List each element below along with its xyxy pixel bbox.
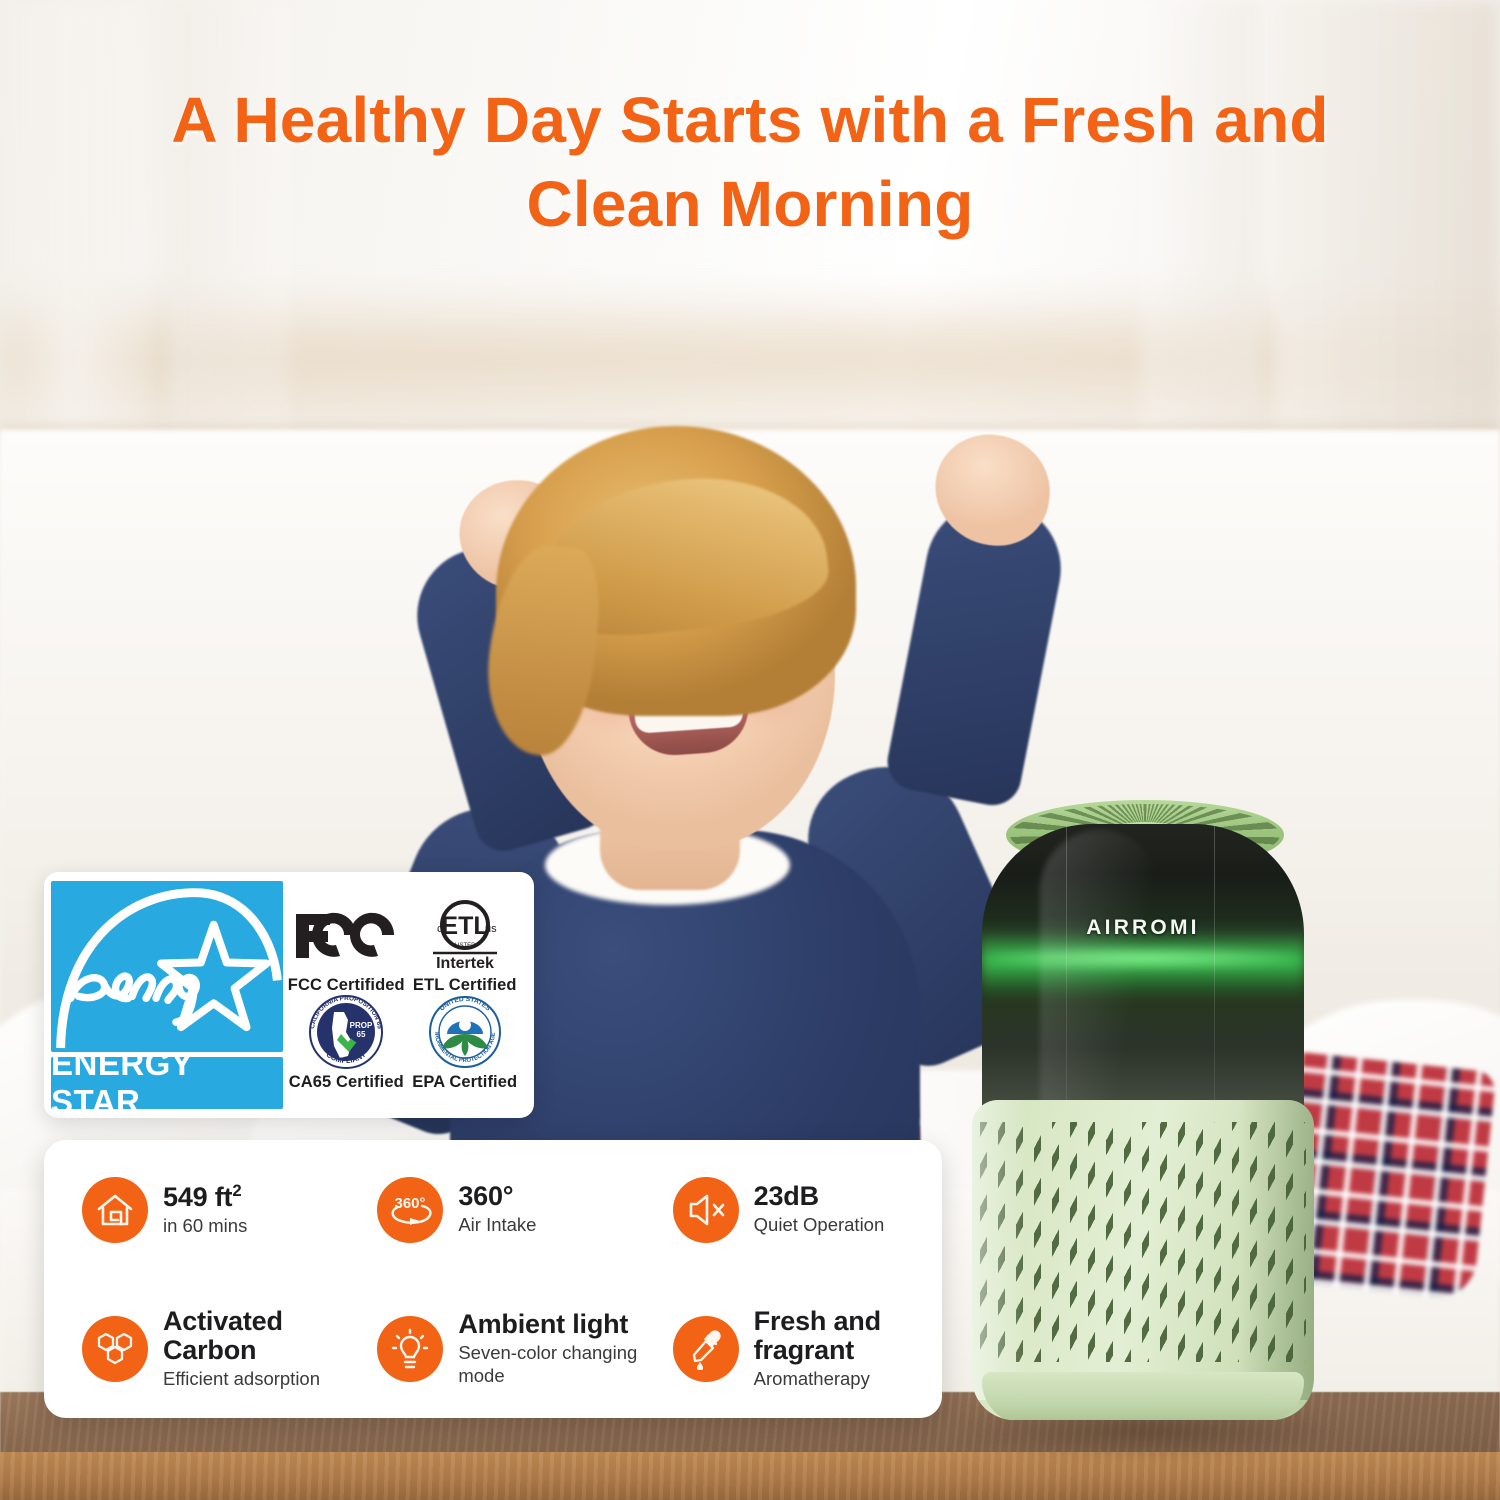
brand-logo: AIRROMI xyxy=(982,916,1304,940)
epa-seal-icon: UNITED STATES ENVIRONMENTAL PROTECTION A… xyxy=(427,995,503,1069)
cert-label-fcc: FCC Certifided xyxy=(288,976,405,995)
page-title: A Healthy Day Starts with a Fresh and Cl… xyxy=(90,78,1410,247)
svg-text:PROP: PROP xyxy=(350,1021,373,1030)
carbon-hexagon-icon xyxy=(82,1316,148,1382)
svg-text:65: 65 xyxy=(357,1030,366,1039)
body-shading xyxy=(972,1100,1314,1400)
certification-card: ENERGY STAR FCC Certifided xyxy=(44,872,534,1118)
feature-title-coverage: 549 ft2 xyxy=(163,1182,247,1212)
rotate-360-icon: 360° xyxy=(377,1177,443,1243)
feature-sub-aroma: Aromatherapy xyxy=(754,1368,936,1390)
dropper-icon xyxy=(673,1316,739,1382)
feature-title-light: Ambient light xyxy=(458,1310,640,1339)
cert-label-epa: EPA Certified xyxy=(412,1073,517,1092)
certification-grid: FCC Certifided ETL c us LISTED Intertek … xyxy=(283,892,534,1098)
cert-label-ca65: CA65 Certified xyxy=(289,1073,404,1092)
cert-item-fcc: FCC Certifided xyxy=(287,898,406,995)
cert-item-ca65: PROP 65 CALIFORNIA PROPOSITION 65 COMPLI… xyxy=(287,995,406,1092)
cert-item-etl: ETL c us LISTED Intertek ETL Certified xyxy=(406,898,525,995)
feature-sub-light: Seven-color changing mode xyxy=(458,1342,640,1386)
feature-coverage-area: 549 ft2 in 60 mins xyxy=(50,1177,345,1243)
etl-intertek-logo-icon: ETL c us LISTED Intertek xyxy=(409,898,521,972)
feature-row-bottom: Activated Carbon Efficient adsorption Am… xyxy=(50,1279,936,1418)
svg-text:c: c xyxy=(437,923,443,935)
product-base xyxy=(982,1372,1304,1420)
feature-sub-coverage: in 60 mins xyxy=(163,1215,247,1237)
energy-star-wordmark: ENERGY STAR xyxy=(51,1045,283,1118)
energy-star-artwork xyxy=(51,881,283,1052)
lightbulb-icon xyxy=(377,1316,443,1382)
feature-title-carbon: Activated Carbon xyxy=(163,1307,345,1365)
speaker-mute-icon xyxy=(673,1177,739,1243)
feature-aromatherapy: Fresh and fragrant Aromatherapy xyxy=(641,1307,936,1391)
prop65-seal-icon: PROP 65 CALIFORNIA PROPOSITION 65 COMPLI… xyxy=(308,995,384,1069)
feature-highlights-card: 549 ft2 in 60 mins 360° 360° Air Intake xyxy=(44,1140,942,1418)
air-purifier-product: AIRROMI xyxy=(958,800,1328,1440)
feature-air-intake: 360° 360° Air Intake xyxy=(345,1177,640,1243)
feature-noise-level: 23dB Quiet Operation xyxy=(641,1177,936,1243)
energy-star-badge: ENERGY STAR xyxy=(51,881,283,1109)
cert-label-etl: ETL Certified xyxy=(413,976,517,995)
feature-sub-noise: Quiet Operation xyxy=(754,1214,885,1236)
energy-star-wordmark-bar: ENERGY STAR xyxy=(51,1057,283,1109)
product-marketing-image: A Healthy Day Starts with a Fresh and Cl… xyxy=(0,0,1500,1500)
feature-row-top: 549 ft2 in 60 mins 360° 360° Air Intake xyxy=(50,1140,936,1279)
svg-text:ETL: ETL xyxy=(441,912,488,940)
svg-text:360°: 360° xyxy=(395,1195,426,1212)
feature-sub-carbon: Efficient adsorption xyxy=(163,1368,345,1390)
feature-title-aroma: Fresh and fragrant xyxy=(754,1307,936,1365)
feature-ambient-light: Ambient light Seven-color changing mode xyxy=(345,1310,640,1387)
svg-text:Intertek: Intertek xyxy=(436,955,494,971)
feature-title-noise: 23dB xyxy=(754,1182,885,1211)
svg-text:us: us xyxy=(485,923,497,935)
table-edge-grain xyxy=(0,1452,1500,1500)
feature-sub-intake: Air Intake xyxy=(458,1214,536,1236)
energy-star-emblem xyxy=(51,881,283,1052)
product-green-body xyxy=(972,1100,1314,1420)
cert-item-epa: UNITED STATES ENVIRONMENTAL PROTECTION A… xyxy=(406,995,525,1092)
feature-activated-carbon: Activated Carbon Efficient adsorption xyxy=(50,1307,345,1391)
fcc-logo-icon xyxy=(294,898,398,972)
feature-title-intake: 360° xyxy=(458,1182,536,1211)
house-icon xyxy=(82,1177,148,1243)
svg-text:LISTED: LISTED xyxy=(454,943,476,949)
